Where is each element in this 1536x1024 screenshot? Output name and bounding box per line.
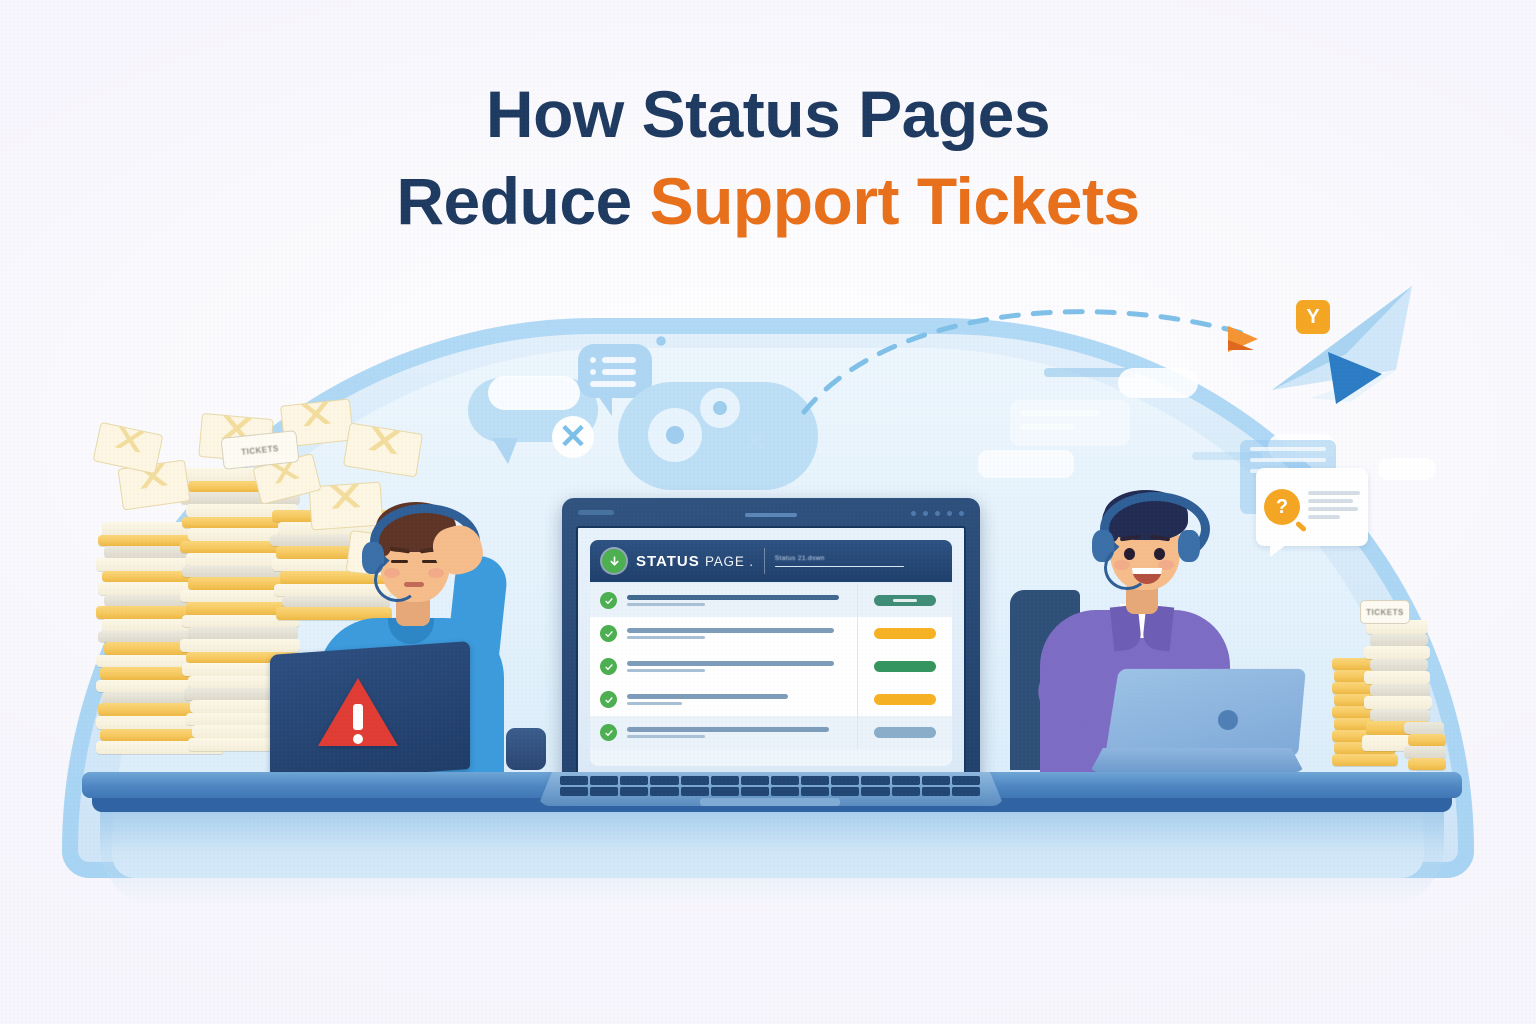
desk-speaker <box>506 728 546 770</box>
table-row[interactable] <box>590 617 952 650</box>
row-text-lines <box>627 727 857 738</box>
status-page-title-light: PAGE . <box>705 554 754 569</box>
table-row[interactable] <box>590 650 952 683</box>
gear-icon-small-hub <box>713 401 727 415</box>
ticket-envelope <box>93 422 164 474</box>
check-circle-icon <box>600 625 617 642</box>
chat-bubble-center <box>578 344 652 398</box>
title-line-2-accent: Support Tickets <box>650 164 1140 238</box>
ticket-label-text: TICKETS <box>241 444 279 457</box>
status-page-meta-text: Status 21.dswn <box>775 555 940 562</box>
status-page-header: STATUS PAGE . Status 21.dswn <box>590 540 952 582</box>
title-line-2: Reduce Support Tickets <box>0 161 1536 242</box>
keyboard[interactable] <box>560 776 980 796</box>
right-laptop-lid <box>1105 669 1306 757</box>
status-page-meta: Status 21.dswn <box>775 555 940 568</box>
page-title: How Status Pages Reduce Support Tickets <box>0 74 1536 241</box>
close-x-icon-left: ✕ <box>552 416 594 458</box>
download-arrow-icon <box>602 549 626 573</box>
row-text-lines <box>627 661 857 672</box>
illustration-canvas: ✕ ✕ ? Y <box>0 0 1536 1024</box>
ticket-label-tag: TICKETS <box>1360 600 1410 624</box>
status-badge <box>857 617 952 650</box>
check-circle-icon <box>600 724 617 741</box>
status-page-screen: STATUS PAGE . Status 21.dswn <box>576 526 966 776</box>
bezel-indicator-dots <box>911 511 964 516</box>
paper-plane-icon: Y <box>1200 278 1460 428</box>
row-text-lines <box>627 694 857 705</box>
white-cloud-left <box>488 376 580 410</box>
title-line-1: How Status Pages <box>0 74 1536 155</box>
table-row[interactable] <box>590 716 952 749</box>
right-laptop-base <box>1090 748 1304 772</box>
check-circle-icon <box>600 658 617 675</box>
gear-icon-large-hub <box>666 426 684 444</box>
main-laptop-lid: STATUS PAGE . Status 21.dswn <box>562 498 980 786</box>
title-line-2-plain: Reduce <box>396 164 649 238</box>
status-badge <box>857 650 952 683</box>
table-row[interactable] <box>590 683 952 716</box>
trackpad[interactable] <box>700 798 840 806</box>
status-page-title: STATUS PAGE . <box>636 553 754 570</box>
status-badge <box>857 584 952 617</box>
check-circle-icon <box>600 691 617 708</box>
sparkle-icon <box>650 330 672 352</box>
warning-exclamation-dot <box>353 734 363 744</box>
table-row[interactable] <box>590 584 952 617</box>
right-laptop-logo <box>1218 710 1238 730</box>
right-laptop <box>1090 668 1304 772</box>
close-x-icon-right: ✕ <box>738 424 772 458</box>
desk-reflection <box>100 810 1444 906</box>
headset-earcup-right <box>1178 530 1200 562</box>
plane-badge-icon: Y <box>1296 300 1330 334</box>
status-page-meta-underline <box>775 566 904 568</box>
webcam-bar <box>745 513 797 517</box>
help-card-lines <box>1308 491 1360 523</box>
check-circle-icon <box>600 592 617 609</box>
main-laptop: STATUS PAGE . Status 21.dswn <box>562 498 980 786</box>
status-badge <box>857 683 952 716</box>
ticket-label-text: TICKETS <box>1366 608 1404 617</box>
status-page-title-bold: STATUS <box>636 553 700 570</box>
row-text-lines <box>627 595 857 606</box>
row-text-lines <box>627 628 857 639</box>
warning-exclamation-bar <box>353 704 363 730</box>
header-divider <box>764 548 765 574</box>
status-page-rows <box>590 584 952 766</box>
speech-bubble-tail-left <box>492 438 518 464</box>
ticket-pile-right: TICKETS <box>1332 596 1482 776</box>
status-badge <box>857 716 952 749</box>
bezel-label <box>578 510 614 515</box>
white-cloud-right-3 <box>1378 458 1436 480</box>
